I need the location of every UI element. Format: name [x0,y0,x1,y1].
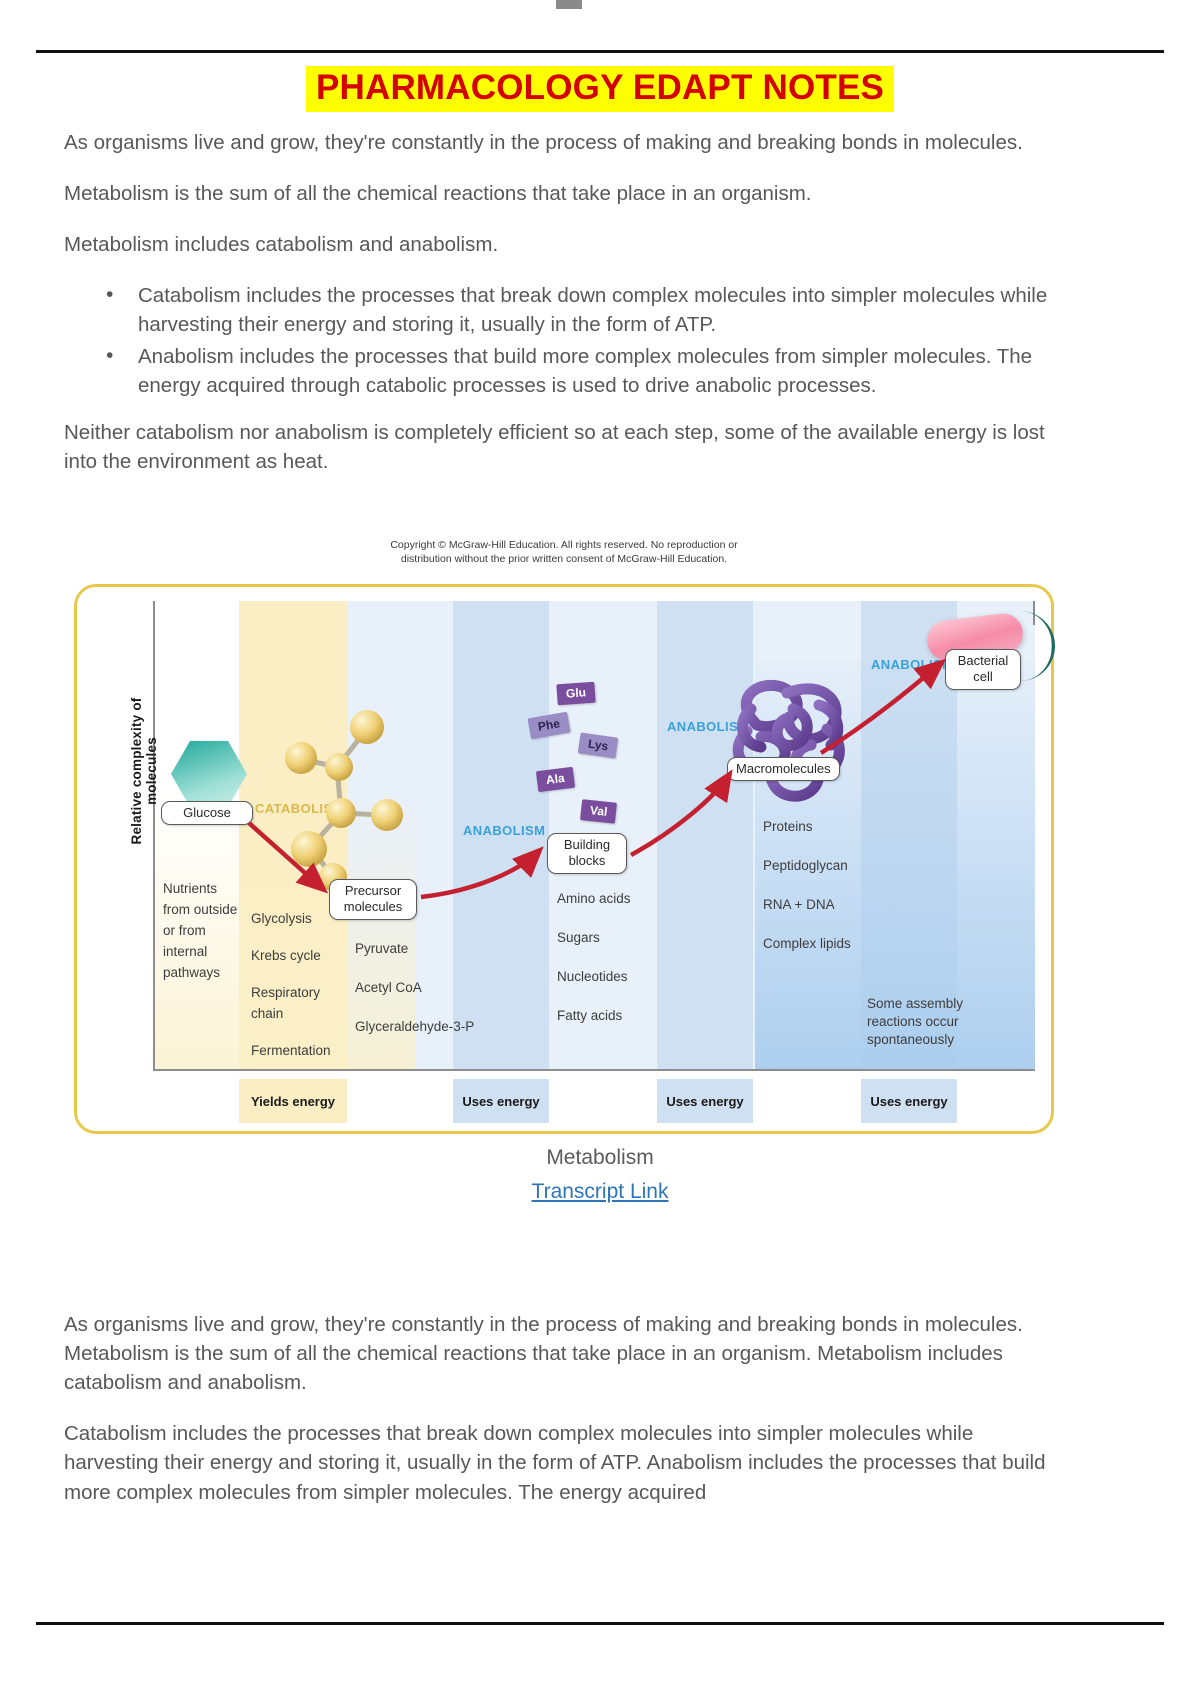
list-item: Catabolism includes the processes that b… [102,281,1064,339]
document-page: PHARMACOLOGY EDAPT NOTES As organisms li… [0,0,1200,1700]
metabolism-figure: Copyright © McGraw-Hill Education. All r… [64,534,1064,1154]
macro-item-peptidoglycan: Peptidoglycan [763,856,851,877]
building-item-nucleotides: Nucleotides [557,967,631,988]
transcript-link[interactable]: Transcript Link [532,1180,669,1203]
intro-paragraph-4: Neither catabolism nor anabolism is comp… [64,418,1064,476]
transcript-link-wrapper: Transcript Link [0,1180,1200,1204]
catabolism-item-respiratory: Respiratory [251,983,331,1004]
nutrients-line-5: pathways [163,963,237,984]
precursor-item-pyruvate: Pyruvate [355,939,474,960]
building-item-fatty-acids: Fatty acids [557,1006,631,1027]
energy-label-uses-1: Uses energy [453,1079,549,1123]
copyright-line-2: distribution without the prior written c… [64,552,1064,566]
nutrients-line-1: Nutrients [163,879,237,900]
building-item-sugars: Sugars [557,928,631,949]
energy-label-yields: Yields energy [239,1079,347,1123]
macro-item-rna-dna: RNA + DNA [763,895,851,916]
intro-section: As organisms live and grow, they're cons… [64,128,1064,498]
macro-item-proteins: Proteins [763,817,851,838]
intro-paragraph-3: Metabolism includes catabolism and anabo… [64,230,1064,259]
assembly-line-2: reactions occur [867,1013,963,1031]
figure-card: Relative complexity of molecules CATABOL… [74,584,1054,1134]
outro-paragraph-2: Catabolism includes the processes that b… [64,1419,1064,1506]
catabolism-item-glycolysis: Glycolysis [251,909,331,930]
figure-copyright: Copyright © McGraw-Hill Education. All r… [64,538,1064,566]
outro-section: As organisms live and grow, they're cons… [64,1310,1064,1529]
nutrients-line-2: from outside [163,900,237,921]
nutrients-line-3: or from [163,921,237,942]
assembly-line-1: Some assembly [867,995,963,1013]
intro-paragraph-2: Metabolism is the sum of all the chemica… [64,179,1064,208]
nutrients-line-4: internal [163,942,237,963]
energy-label-uses-2: Uses energy [657,1079,753,1123]
column-precursor-items: Pyruvate Acetyl CoA Glyceraldehyde-3-P [355,939,474,1038]
column-catabolism-processes: Glycolysis Krebs cycle Respiratory chain… [251,909,331,1062]
list-item: Anabolism includes the processes that bu… [102,342,1064,400]
column-building-block-items: Amino acids Sugars Nucleotides Fatty aci… [557,889,631,1027]
catabolism-item-chain: chain [251,1004,331,1025]
catabolism-item-fermentation: Fermentation [251,1041,331,1062]
figure-plot-area: Relative complexity of molecules CATABOL… [115,601,1035,1071]
header-rule [36,50,1164,53]
precursor-item-g3p: Glyceraldehyde-3-P [355,1017,474,1038]
copyright-line-1: Copyright © McGraw-Hill Education. All r… [64,538,1064,552]
page-crop-artifact [556,0,582,9]
footer-rule [36,1622,1164,1625]
building-item-amino-acids: Amino acids [557,889,631,910]
intro-bullet-list: Catabolism includes the processes that b… [64,281,1064,399]
column-macromolecule-items: Proteins Peptidoglycan RNA + DNA Complex… [763,817,851,955]
macro-item-complex-lipids: Complex lipids [763,934,851,955]
column-nutrients: Nutrients from outside or from internal … [163,879,237,984]
energy-label-uses-3: Uses energy [861,1079,957,1123]
outro-paragraph-1: As organisms live and grow, they're cons… [64,1310,1064,1397]
precursor-item-acetyl-coa: Acetyl CoA [355,978,474,999]
intro-paragraph-1: As organisms live and grow, they're cons… [64,128,1064,157]
page-title-wrapper: PHARMACOLOGY EDAPT NOTES [0,66,1200,112]
column-assembly-note: Some assembly reactions occur spontaneou… [867,995,963,1050]
figure-caption: Metabolism [0,1146,1200,1170]
page-title: PHARMACOLOGY EDAPT NOTES [306,66,894,112]
catabolism-item-krebs: Krebs cycle [251,946,331,967]
assembly-line-3: spontaneously [867,1031,963,1049]
